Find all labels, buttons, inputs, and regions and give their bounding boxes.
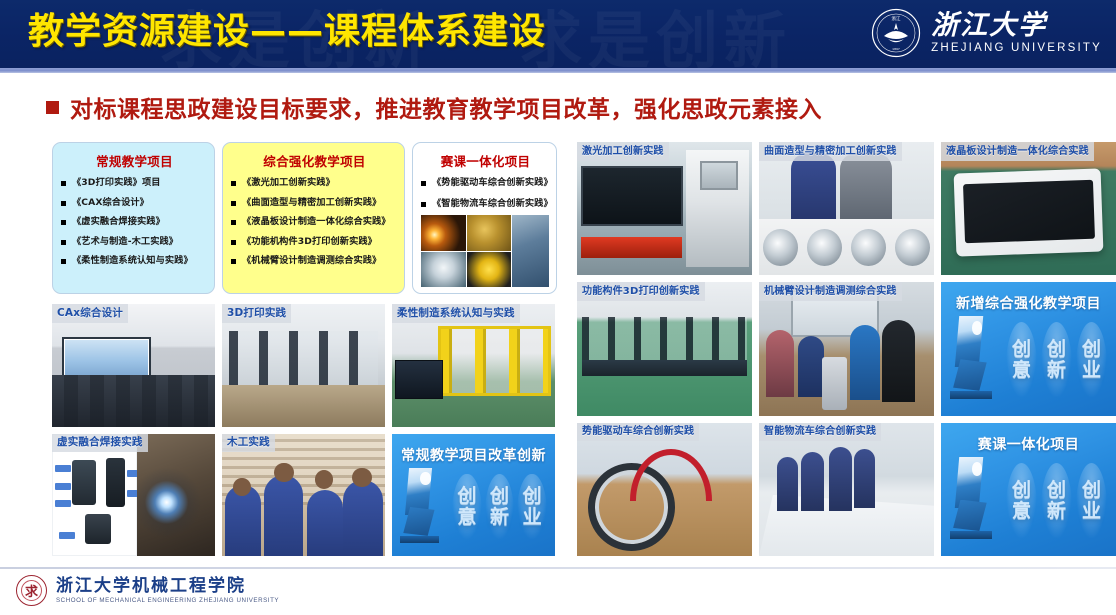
slogan-char: 业 (523, 507, 542, 527)
list-item: 《虚实融合焊接实践》 (61, 216, 208, 228)
photo-functional-3d-printing: 功能构件3D打印创新实践 (577, 282, 752, 415)
slogan-word: 创 意 (1006, 463, 1038, 538)
photo-label: 柔性制造系统认知与实践 (392, 304, 520, 323)
slogan-char: 创 (523, 486, 542, 506)
photo-image (759, 282, 934, 415)
project-box-enhanced: 综合强化教学项目 《激光加工创新实践》 《曲面造型与精密加工创新实践》 《液晶板… (222, 142, 405, 294)
slogan-word: 创 业 (517, 474, 546, 540)
list-item-label: 《智能物流车综合创新实践》 (432, 198, 550, 210)
photo-label: 虚实融合焊接实践 (52, 434, 148, 453)
slogan-char: 创 (1047, 339, 1066, 359)
slide: 求是创新 求是创新 教学资源建设——课程体系建设 浙江 1897 浙江大学 ZH… (0, 0, 1116, 615)
photo-label: 机械臂设计制造调测综合实践 (759, 282, 902, 301)
photo-image (577, 142, 752, 275)
regular-projects-photo-grid: CAx综合设计 3D打印实践 柔性制造系统认知与实践 虚实融合焊接实践 (52, 304, 555, 556)
bullet-icon (231, 240, 236, 245)
slogan-char: 创 (1012, 339, 1031, 359)
list-item-label: 《3D打印实践》项目 (72, 177, 161, 189)
photo-woodworking: 木工实践 (222, 434, 385, 557)
box-title: 综合强化教学项目 (231, 151, 398, 170)
box-title: 常规教学项目 (61, 151, 208, 170)
photo-label: 3D打印实践 (222, 304, 291, 323)
school-logo-text: 浙江大学机械工程学院 SCHOOL OF MECHANICAL ENGINEER… (56, 576, 279, 605)
slogan-char: 创 (1047, 480, 1066, 500)
project-photo-collage (421, 215, 549, 287)
slide-header: 求是创新 求是创新 教学资源建设——课程体系建设 浙江 1897 浙江大学 ZH… (0, 0, 1116, 68)
photo-image (759, 423, 934, 556)
list-item-label: 《功能机构件3D打印创新实践》 (242, 236, 377, 248)
monument-icon (950, 316, 992, 399)
collage-photo-machine (421, 252, 466, 288)
slogan-word: 创 业 (1076, 322, 1108, 397)
list-item: 《激光加工创新实践》 (231, 177, 398, 189)
photo-flexible-manufacturing: 柔性制造系统认知与实践 (392, 304, 555, 427)
zju-logo-cn: 浙江大学 (931, 11, 1047, 41)
monument-icon (950, 457, 992, 540)
bullet-icon (61, 259, 66, 264)
slogan-char: 创 (457, 486, 476, 506)
list-item-label: 《曲面造型与精密加工创新实践》 (242, 197, 381, 209)
card-title: 新增综合强化教学项目 (941, 293, 1116, 313)
photo-label: 势能驱动车综合创新实践 (577, 423, 699, 442)
slogan-char: 新 (1047, 501, 1066, 521)
list-item-label: 《液晶板设计制造一体化综合实践》 (242, 216, 391, 228)
card-slogan: 创 意 创 新 创 业 (451, 474, 549, 551)
slogan-word: 创 新 (1041, 322, 1073, 397)
bullet-icon (421, 181, 426, 186)
square-bullet-icon (46, 101, 59, 114)
photo-label: 智能物流车综合创新实践 (759, 423, 881, 442)
zju-seal-icon: 浙江 1897 (871, 8, 921, 58)
monument-icon (400, 468, 439, 544)
card-title: 赛课一体化项目 (941, 434, 1116, 454)
footer-divider (0, 567, 1116, 569)
photo-lcd-panel: 液晶板设计制造一体化综合实践 (941, 142, 1116, 275)
photo-label: 液晶板设计制造一体化综合实践 (941, 142, 1094, 161)
slogan-char: 意 (1012, 501, 1031, 521)
bullet-icon (231, 220, 236, 225)
photo-label: 木工实践 (222, 434, 275, 453)
photo-robot-arm-class: 机械臂设计制造调测综合实践 (759, 282, 934, 415)
box-title: 赛课一体化项目 (421, 151, 550, 170)
school-seal-icon (16, 575, 47, 606)
slogan-char: 新 (1047, 360, 1066, 380)
list-item: 《CAX综合设计》 (61, 197, 208, 209)
school-logo: 浙江大学机械工程学院 SCHOOL OF MECHANICAL ENGINEER… (16, 575, 279, 606)
slogan-char: 创 (490, 486, 509, 506)
card-title: 常规教学项目改革创新 (392, 445, 555, 465)
photo-label: 激光加工创新实践 (577, 142, 669, 161)
slogan-char: 创 (1082, 339, 1101, 359)
list-item: 《柔性制造系统认知与实践》 (61, 255, 208, 267)
bullet-icon (61, 201, 66, 206)
list-item-label: 《激光加工创新实践》 (242, 177, 335, 189)
slide-footer: 浙江大学机械工程学院 SCHOOL OF MECHANICAL ENGINEER… (0, 567, 1116, 615)
subtitle-text: 对标课程思政建设目标要求，推进教育教学项目改革，强化思政元素接入 (70, 90, 822, 124)
list-item: 《3D打印实践》项目 (61, 177, 208, 189)
card-competition-integrated-project: 赛课一体化项目 创 意 创 新 创 业 (941, 423, 1116, 556)
bullet-icon (61, 220, 66, 225)
slogan-word: 创 意 (452, 474, 481, 540)
box-item-list: 《势能驱动车综合创新实践》 《智能物流车综合创新实践》 (421, 177, 550, 210)
bullet-icon (61, 181, 66, 186)
list-item: 《液晶板设计制造一体化综合实践》 (231, 216, 398, 228)
slogan-word: 创 意 (1006, 322, 1038, 397)
school-name-en: SCHOOL OF MECHANICAL ENGINEERING ZHEJIAN… (56, 596, 279, 605)
photo-label: CAx综合设计 (52, 304, 128, 323)
box-item-list: 《3D打印实践》项目 《CAX综合设计》 《虚实融合焊接实践》 《艺术与制造-木… (61, 177, 208, 267)
slogan-word: 创 新 (1041, 463, 1073, 538)
box-item-list: 《激光加工创新实践》 《曲面造型与精密加工创新实践》 《液晶板设计制造一体化综合… (231, 177, 398, 267)
card-slogan: 创 意 创 新 创 业 (1004, 322, 1109, 409)
photo-curved-surface-machining: 曲面造型与精密加工创新实践 (759, 142, 934, 275)
list-item: 《机械臂设计制造调测综合实践》 (231, 255, 398, 267)
subtitle: 对标课程思政建设目标要求，推进教育教学项目改革，强化思政元素接入 (46, 89, 822, 125)
slogan-char: 意 (457, 507, 476, 527)
list-item-label: 《艺术与制造-木工实践》 (72, 236, 178, 248)
list-item-label: 《机械臂设计制造调测综合实践》 (242, 255, 381, 267)
bullet-icon (61, 240, 66, 245)
collage-photo-students (512, 215, 549, 287)
svg-text:1897: 1897 (892, 47, 900, 51)
project-box-regular: 常规教学项目 《3D打印实践》项目 《CAX综合设计》 《虚实融合焊接实践》 《… (52, 142, 215, 294)
bullet-icon (231, 259, 236, 264)
photo-label: 功能构件3D打印创新实践 (577, 282, 705, 301)
photo-label: 曲面造型与精密加工创新实践 (759, 142, 902, 161)
list-item-label: 《柔性制造系统认知与实践》 (72, 255, 193, 267)
bullet-icon (231, 181, 236, 186)
project-box-competition: 赛课一体化项目 《势能驱动车综合创新实践》 《智能物流车综合创新实践》 (412, 142, 557, 294)
list-item: 《智能物流车综合创新实践》 (421, 198, 550, 210)
photo-image (577, 282, 752, 415)
photo-image (941, 142, 1116, 275)
slogan-char: 创 (1082, 480, 1101, 500)
header-divider (0, 68, 1116, 73)
slogan-char: 创 (1012, 480, 1031, 500)
list-item-label: 《CAX综合设计》 (72, 197, 149, 209)
list-item: 《曲面造型与精密加工创新实践》 (231, 197, 398, 209)
list-item-label: 《势能驱动车综合创新实践》 (432, 177, 550, 189)
list-item: 《功能机构件3D打印创新实践》 (231, 236, 398, 248)
photo-logistics-car: 智能物流车综合创新实践 (759, 423, 934, 556)
list-item: 《艺术与制造-木工实践》 (61, 236, 208, 248)
project-category-boxes: 常规教学项目 《3D打印实践》项目 《CAX综合设计》 《虚实融合焊接实践》 《… (52, 142, 557, 294)
slogan-word: 创 业 (1076, 463, 1108, 538)
photo-image (759, 142, 934, 275)
zju-logo-en: ZHEJIANG UNIVERSITY (931, 41, 1102, 55)
zju-logo: 浙江 1897 浙江大学 ZHEJIANG UNIVERSITY (871, 6, 1102, 60)
card-regular-project-reform: 常规教学项目改革创新 创 意 创 新 创 业 (392, 434, 555, 557)
bullet-icon (231, 201, 236, 206)
slogan-char: 业 (1082, 501, 1101, 521)
zju-logo-text: 浙江大学 ZHEJIANG UNIVERSITY (931, 11, 1102, 55)
photo-image (577, 423, 752, 556)
slogan-char: 业 (1082, 360, 1101, 380)
photo-potential-energy-car: 势能驱动车综合创新实践 (577, 423, 752, 556)
slogan-char: 意 (1012, 360, 1031, 380)
list-item-label: 《虚实融合焊接实践》 (72, 216, 165, 228)
list-item: 《势能驱动车综合创新实践》 (421, 177, 550, 189)
school-name-cn: 浙江大学机械工程学院 (56, 576, 279, 596)
enhanced-projects-photo-grid: 激光加工创新实践 曲面造型与精密加工创新实践 液晶板设计制造一体化综合实践 功能… (577, 142, 1116, 556)
photo-3d-printing: 3D打印实践 (222, 304, 385, 427)
photo-vr-welding: 虚实融合焊接实践 (52, 434, 215, 557)
collage-photo-gold-car (467, 215, 512, 251)
svg-text:浙江: 浙江 (892, 15, 901, 22)
card-new-enhanced-projects: 新增综合强化教学项目 创 意 创 新 创 业 (941, 282, 1116, 415)
slogan-char: 新 (490, 507, 509, 527)
collage-photo-yellow-part (467, 252, 512, 288)
collage-photo-laser (421, 215, 466, 251)
card-slogan: 创 意 创 新 创 业 (1004, 463, 1109, 550)
page-title: 教学资源建设——课程体系建设 (28, 7, 546, 57)
photo-laser-machining: 激光加工创新实践 (577, 142, 752, 275)
header-watermark: 求是创新 (520, 0, 792, 68)
slogan-word: 创 新 (485, 474, 514, 540)
bullet-icon (421, 202, 426, 207)
photo-cax-design: CAx综合设计 (52, 304, 215, 427)
